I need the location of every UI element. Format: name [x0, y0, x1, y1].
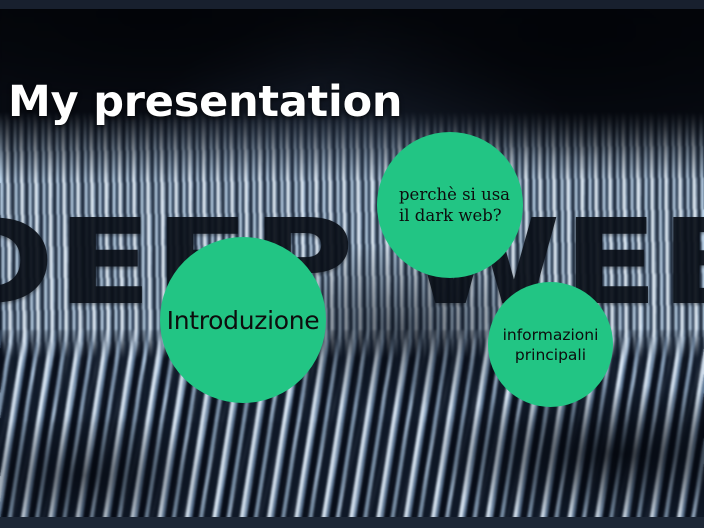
- bubble-informazioni-principali[interactable]: informazioni principali: [488, 282, 613, 407]
- bubble-introduzione-label: Introduzione: [167, 306, 320, 335]
- top-letterbox-bar: [0, 0, 704, 9]
- presentation-slide[interactable]: DEEP WEB My presentation Introduzione pe…: [0, 0, 704, 528]
- page-title: My presentation: [8, 76, 402, 128]
- bubble-perche-si-usa[interactable]: perchè si usa il dark web?: [377, 132, 523, 278]
- bubble-introduzione[interactable]: Introduzione: [160, 237, 326, 403]
- bubble-informazioni-principali-label: informazioni principali: [503, 325, 599, 365]
- bubble-perche-si-usa-label: perchè si usa il dark web?: [399, 184, 510, 226]
- bottom-letterbox-bar: [0, 517, 704, 528]
